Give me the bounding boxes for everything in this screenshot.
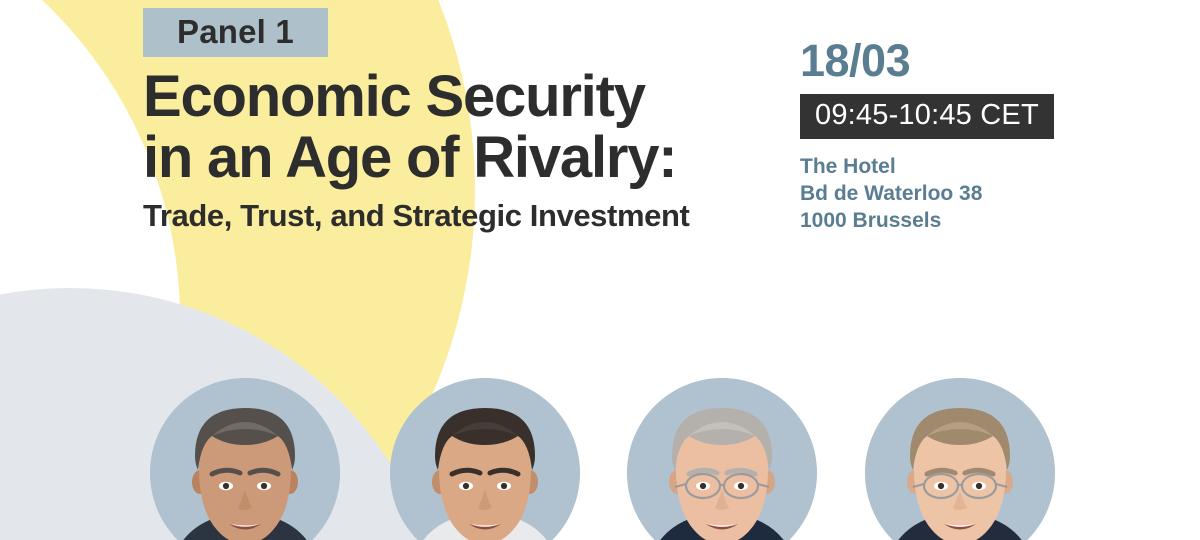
- speaker-portrait-4: [865, 378, 1055, 540]
- portrait-illustration: [150, 378, 340, 540]
- portrait-illustration: [865, 378, 1055, 540]
- portrait-illustration: [627, 378, 817, 540]
- panel-announcement-poster: Panel 1 Economic Security in an Age of R…: [0, 0, 1200, 540]
- speaker-portrait-3: [627, 378, 817, 540]
- portrait-illustration: [390, 378, 580, 540]
- speaker-portrait-1: [150, 378, 340, 540]
- speaker-portrait-2: [390, 378, 580, 540]
- speaker-portrait-row: [0, 0, 1200, 540]
